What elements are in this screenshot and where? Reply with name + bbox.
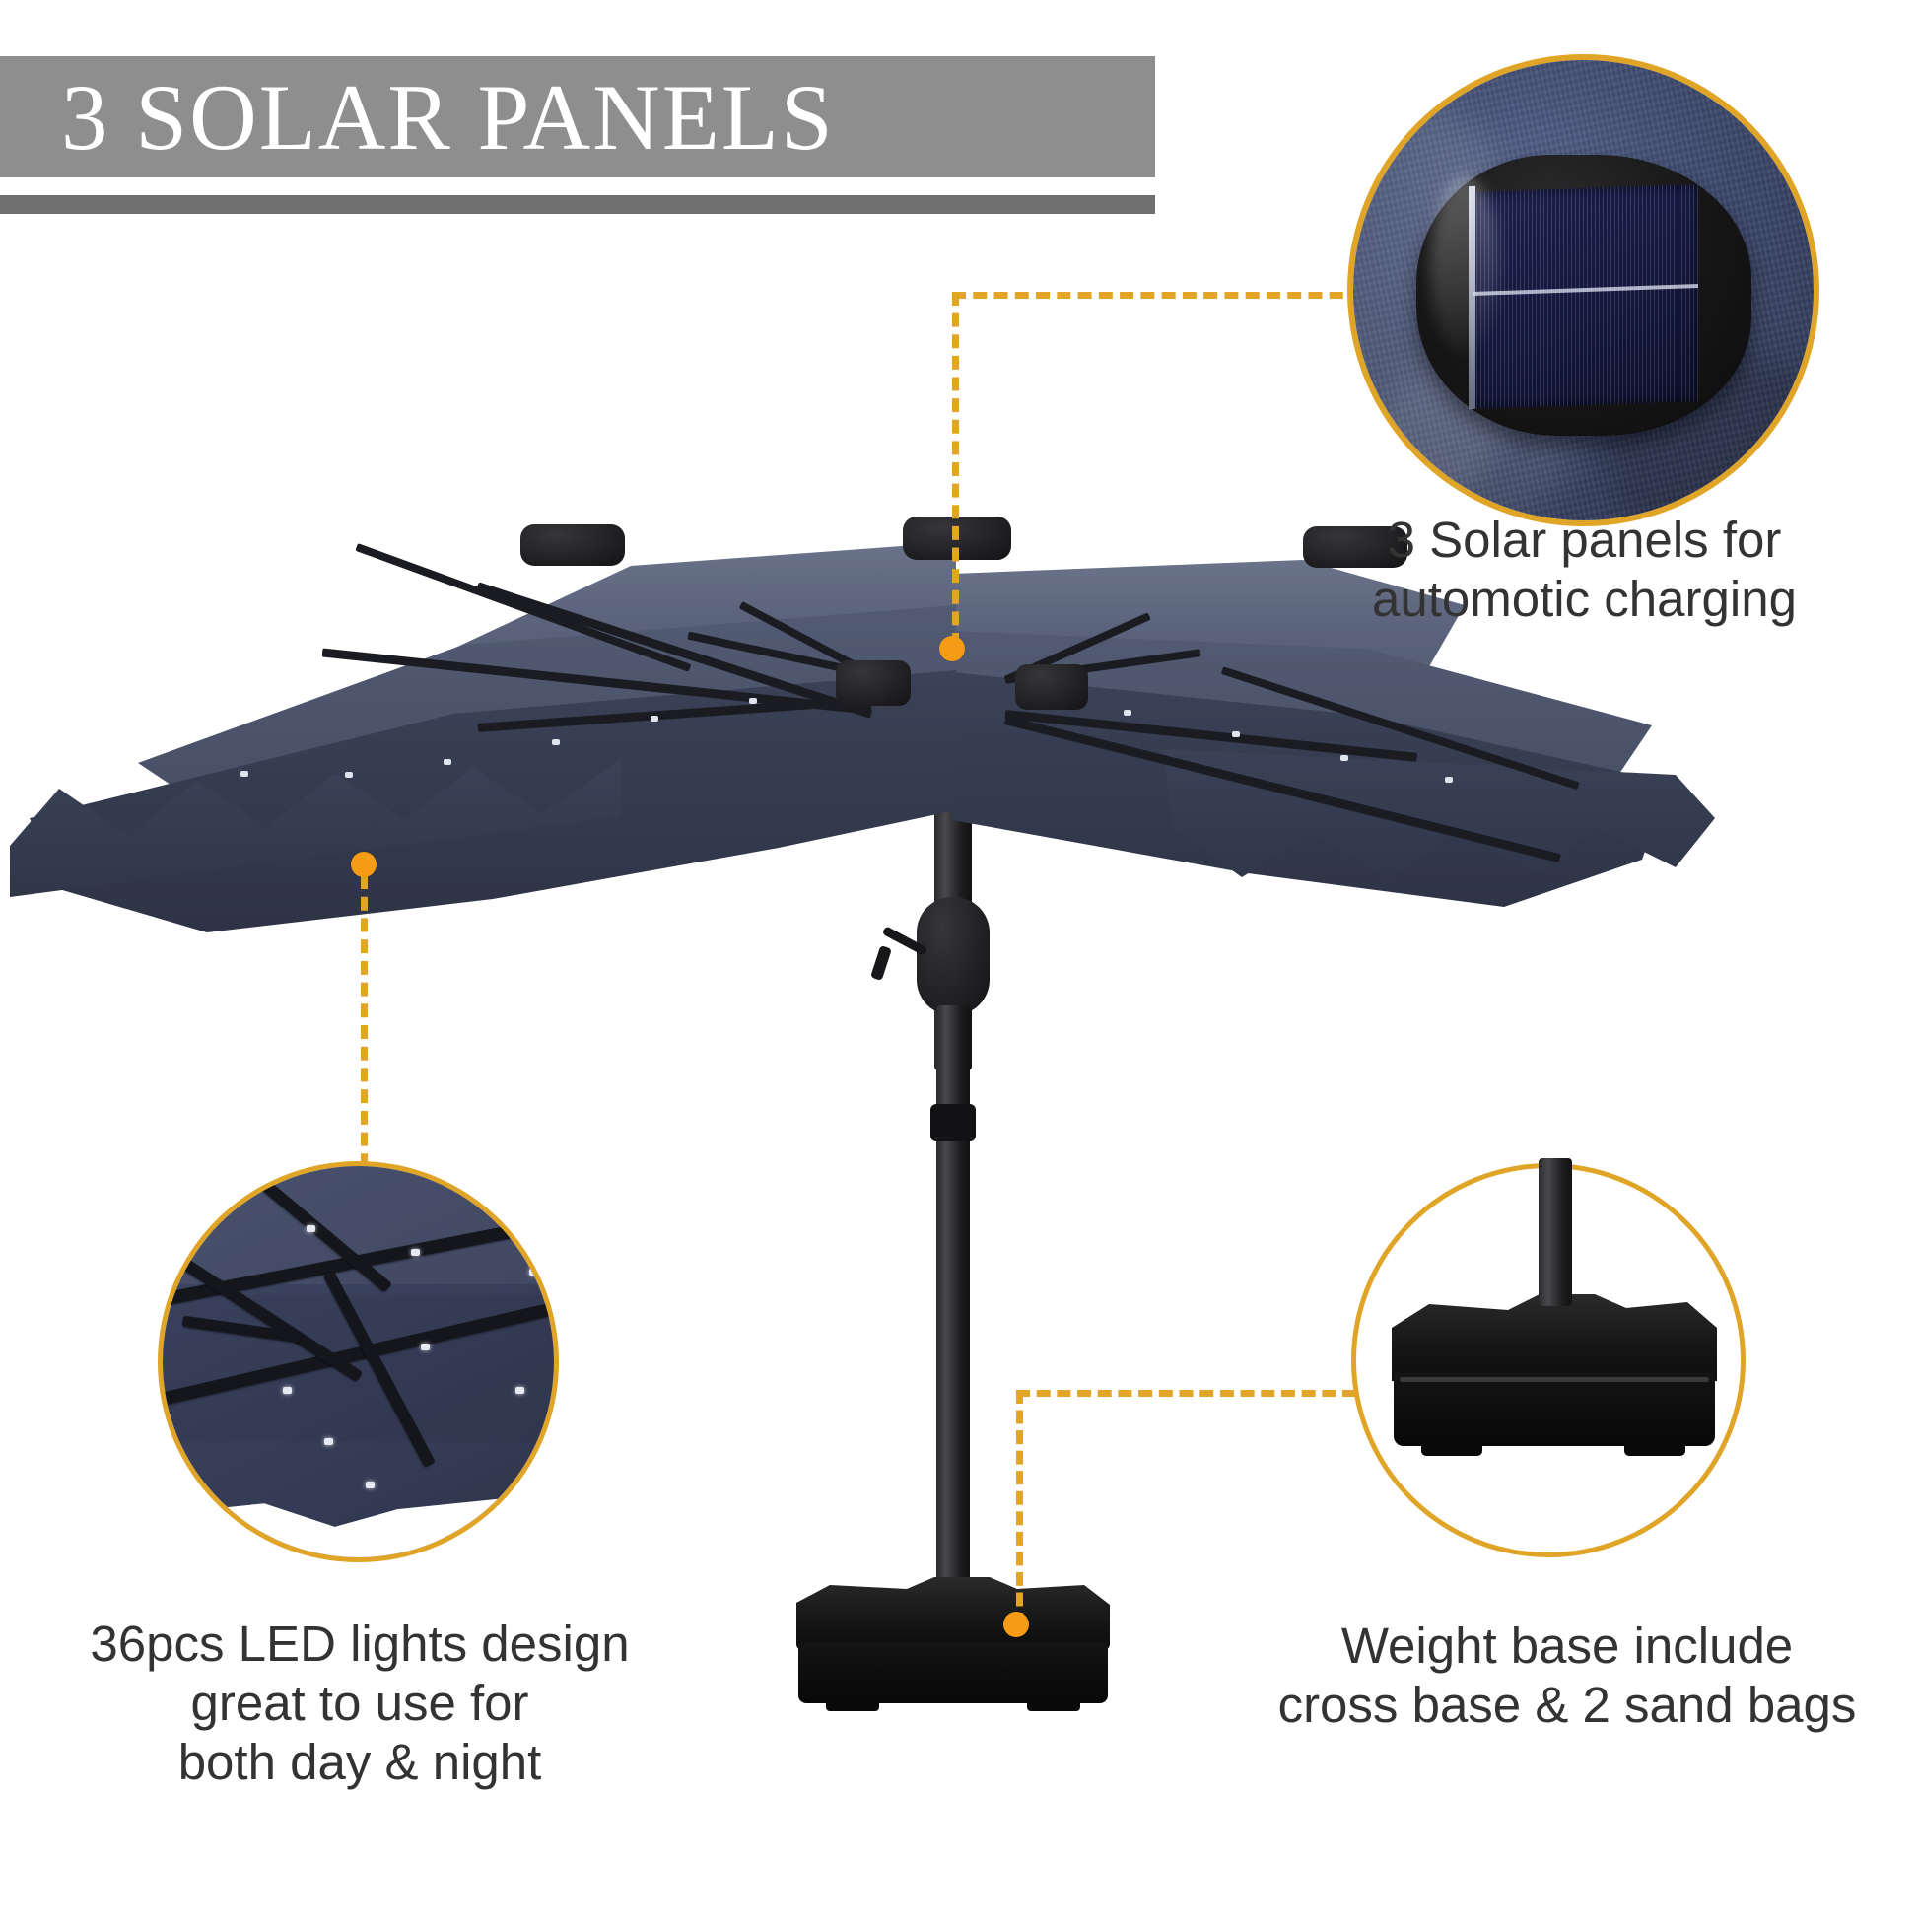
solar-panel-callout-image	[1353, 60, 1814, 520]
led-light	[324, 1438, 333, 1445]
weight-base-foot-right	[1027, 1699, 1080, 1711]
header-underline-rule	[0, 195, 1155, 214]
right-wing-hub	[1015, 664, 1088, 710]
infographic-canvas: 3 SOLAR PANELS	[0, 0, 1918, 1918]
led-point	[240, 771, 248, 777]
canopy-edge-background	[163, 1484, 554, 1557]
crank-housing	[917, 897, 990, 1015]
caption-line: 36pcs LED lights design	[44, 1615, 675, 1674]
umbrella-pole-lower	[936, 1005, 970, 1617]
caption-line: Weight base include	[1262, 1617, 1873, 1676]
marker-dot-solar	[939, 636, 965, 661]
connector-solar-vertical	[952, 292, 959, 647]
led-light	[411, 1249, 420, 1256]
led-light	[529, 1269, 538, 1276]
led-point	[444, 759, 451, 765]
weight-base-top	[796, 1577, 1110, 1650]
pole-collar	[930, 1104, 976, 1141]
connector-base-vertical	[1016, 1390, 1023, 1626]
weight-base-seam	[1400, 1377, 1709, 1382]
led-light	[515, 1387, 524, 1394]
led-point	[345, 772, 353, 778]
led-lights-callout-image	[163, 1166, 554, 1557]
weight-base-callout-image	[1351, 1163, 1746, 1557]
base-pole-stub	[1539, 1158, 1572, 1306]
solar-panel-icon	[1473, 184, 1698, 409]
led-point	[651, 716, 658, 722]
led-light	[366, 1482, 375, 1488]
caption-weight-base: Weight base include cross base & 2 sand …	[1262, 1617, 1873, 1735]
weight-base-side	[798, 1642, 1108, 1703]
led-light	[421, 1344, 430, 1350]
caption-line: automotic charging	[1316, 570, 1853, 629]
led-point	[552, 739, 560, 745]
led-point	[1124, 710, 1131, 716]
led-point	[1340, 755, 1348, 761]
caption-led-lights: 36pcs LED lights design great to use for…	[44, 1615, 675, 1792]
crank-handle-grip	[870, 945, 892, 981]
page-title: 3 SOLAR PANELS	[61, 61, 1145, 174]
caption-line: both day & night	[44, 1733, 675, 1792]
caption-solar-panels: 3 Solar panels for automotic charging	[1316, 511, 1853, 629]
connector-base-horizontal	[1016, 1390, 1356, 1397]
caption-line: cross base & 2 sand bags	[1262, 1676, 1873, 1735]
led-light	[307, 1225, 315, 1232]
marker-dot-base	[1003, 1612, 1029, 1637]
left-wing-hub	[836, 660, 911, 706]
connector-solar-horizontal	[952, 292, 1364, 299]
solar-housing-left	[520, 524, 625, 566]
weight-base-foot-left	[1421, 1442, 1482, 1456]
led-light	[283, 1387, 292, 1394]
weight-base-foot-left	[826, 1699, 879, 1711]
marker-dot-led	[351, 852, 377, 877]
solar-panel-glare	[1430, 176, 1499, 354]
led-point	[1445, 777, 1453, 783]
weight-base-side	[1394, 1373, 1715, 1446]
caption-line: 3 Solar panels for	[1316, 511, 1853, 570]
led-point	[749, 698, 757, 704]
weight-base-top	[1392, 1294, 1717, 1381]
led-point	[1232, 731, 1240, 737]
caption-line: great to use for	[44, 1674, 675, 1733]
weight-base-foot-right	[1624, 1442, 1685, 1456]
connector-led-vertical	[361, 875, 368, 1189]
